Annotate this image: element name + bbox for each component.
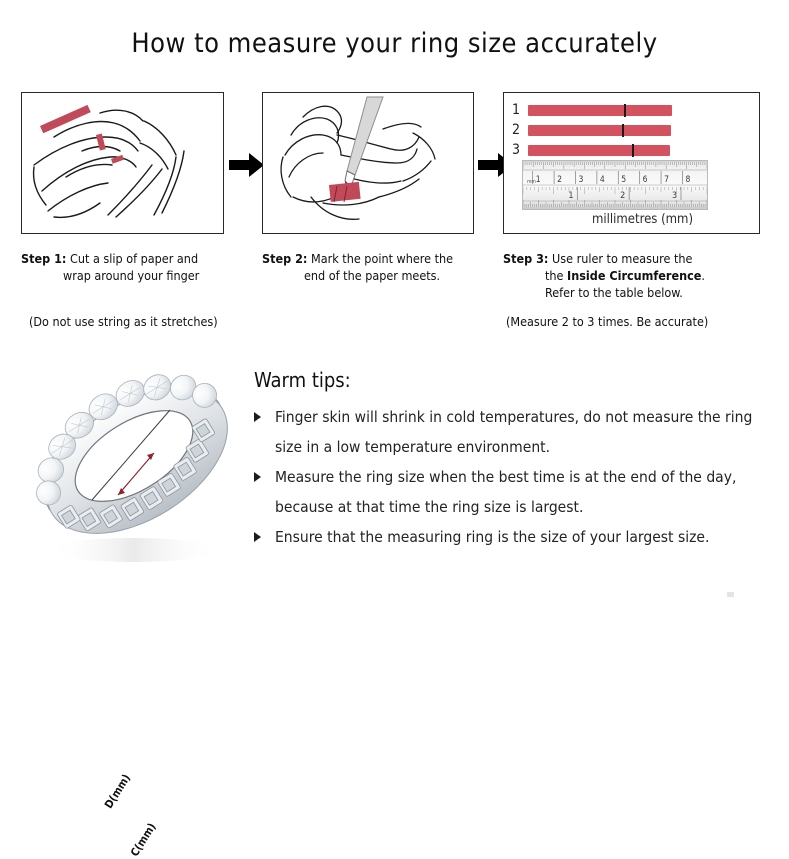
strip-1-mark [624, 104, 626, 117]
triangle-bullet-icon [254, 472, 261, 482]
ruler-scales: 12345678 mm 123 [523, 161, 707, 209]
step-3-line3: Refer to the table below. [503, 284, 765, 301]
paper-strip-1 [528, 105, 672, 116]
step-2-line1: Mark the point where the [311, 251, 453, 266]
step-2-line2: end of the paper meets. [262, 267, 482, 284]
svg-text:2: 2 [557, 175, 562, 185]
ring-diagram: D(mm) C(mm) [18, 352, 250, 577]
svg-text:2: 2 [620, 191, 625, 201]
paper-strip-row-2: 2 [512, 122, 671, 138]
paper-strip-row-3: 3 [512, 142, 670, 158]
triangle-bullet-icon [254, 412, 261, 422]
svg-text:3: 3 [578, 175, 583, 185]
step-2-illustration-panel [262, 92, 474, 234]
tip-item-3: Ensure that the measuring ring is the si… [254, 522, 769, 552]
step-1-note: (Do not use string as it stretches) [29, 314, 218, 329]
strip-number-2: 2 [512, 122, 528, 138]
svg-text:7: 7 [664, 175, 669, 185]
warm-tips-heading: Warm tips: [254, 368, 351, 392]
svg-text:mm: mm [527, 179, 536, 185]
ruler-graphic: 12345678 mm 123 [522, 160, 708, 210]
ruler-unit-caption: millimetres (mm) [592, 212, 693, 227]
svg-text:5: 5 [621, 175, 626, 185]
ring-circumference-label: C(mm) [128, 821, 159, 859]
svg-text:6: 6 [643, 175, 648, 185]
eternity-ring-illustration [18, 352, 250, 577]
ring-size-guide-page: How to measure your ring size accurately [0, 0, 789, 606]
warm-tips-list: Finger skin will shrink in cold temperat… [254, 402, 769, 552]
svg-text:1: 1 [536, 175, 541, 185]
step-3-note: (Measure 2 to 3 times. Be accurate) [506, 314, 708, 329]
step-1-line2: wrap around your finger [21, 267, 236, 284]
hands-marking-paper-drawing [263, 93, 472, 232]
hand-with-paper-strip-drawing [22, 93, 222, 232]
step-3-caption: Step 3: Use ruler to measure the the Ins… [503, 250, 765, 301]
strip-3-mark [632, 144, 634, 157]
corner-artifact [727, 592, 734, 597]
inside-circumference-emphasis: Inside Circumference [567, 268, 701, 283]
tip-item-2: Measure the ring size when the best time… [254, 462, 769, 522]
page-title: How to measure your ring size accurately [0, 28, 789, 59]
strip-2-mark [622, 124, 624, 137]
arrow-step1-to-step2-icon [229, 152, 265, 178]
strip-number-1: 1 [512, 102, 528, 118]
paper-strip-3 [528, 145, 670, 156]
step-3-line2: the Inside Circumference. [503, 267, 765, 284]
step-3-line1: Use ruler to measure the [552, 251, 692, 266]
tip-item-1-text: Finger skin will shrink in cold temperat… [275, 408, 752, 456]
svg-text:4: 4 [600, 175, 605, 185]
tip-item-2-text: Measure the ring size when the best time… [275, 468, 736, 516]
paper-strip-row-1: 1 [512, 102, 672, 118]
step-1-line1: Cut a slip of paper and [70, 251, 198, 266]
tip-item-3-text: Ensure that the measuring ring is the si… [275, 528, 709, 546]
svg-text:3: 3 [672, 191, 677, 201]
tip-item-1: Finger skin will shrink in cold temperat… [254, 402, 769, 462]
svg-text:8: 8 [685, 175, 690, 185]
ring-diameter-label: D(mm) [102, 772, 133, 811]
step-3-line2-post: . [701, 268, 705, 283]
strip-number-3: 3 [512, 142, 528, 158]
triangle-bullet-icon [254, 532, 261, 542]
paper-strip-2 [528, 125, 671, 136]
step-1-illustration-panel [21, 92, 224, 234]
step-1-label: Step 1: [21, 251, 66, 266]
step-1-caption: Step 1: Cut a slip of paper and wrap aro… [21, 250, 236, 284]
step-2-caption: Step 2: Mark the point where the end of … [262, 250, 482, 284]
step-3-label: Step 3: [503, 251, 548, 266]
svg-text:1: 1 [568, 191, 573, 201]
step-3-line2-pre: the [545, 268, 567, 283]
step-2-label: Step 2: [262, 251, 307, 266]
